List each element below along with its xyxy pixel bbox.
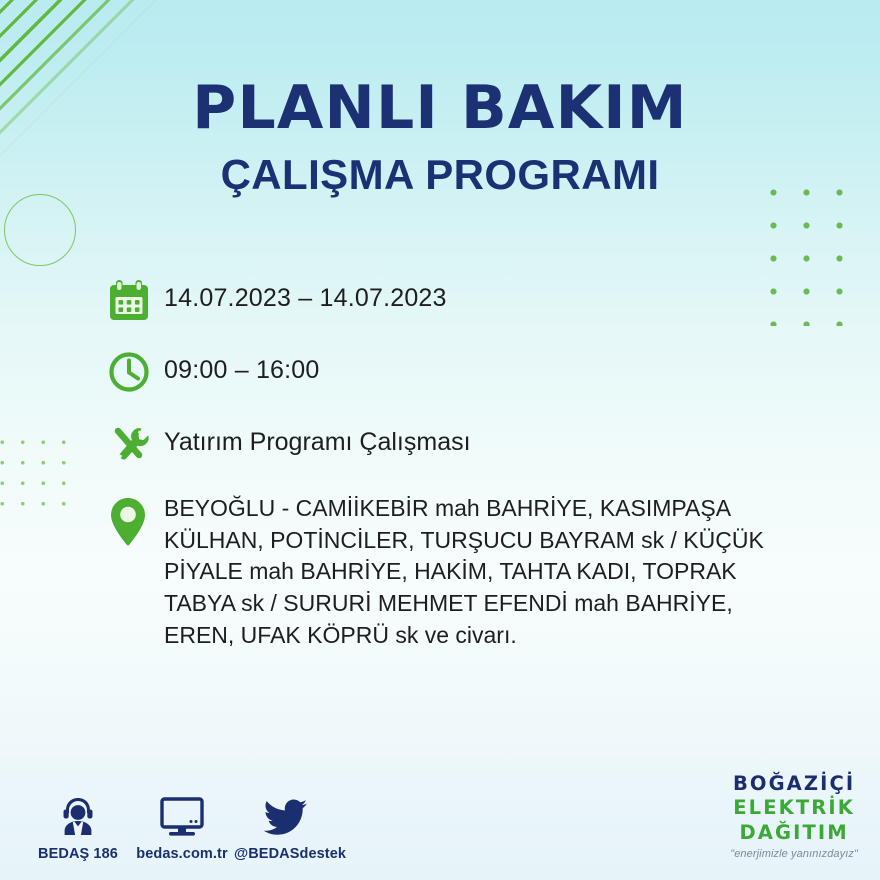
support-agent-icon (26, 792, 130, 838)
brand-line-elektrik: ELEKTRİK (730, 798, 858, 818)
brand-tagline: "enerjimizle yanınızdayız" (730, 849, 858, 860)
tools-icon (108, 420, 164, 470)
footer-item-website[interactable]: bedas.com.tr (130, 792, 234, 862)
info-row-time: 09:00 – 16:00 (108, 348, 808, 398)
monitor-icon (130, 792, 234, 838)
footer-contacts: BEDAŞ 186 bedas.com.tr @BEDASdestek (26, 792, 338, 862)
work-type-value: Yatırım Programı Çalışması (164, 420, 471, 458)
circle-outline-decoration (4, 194, 76, 266)
footer-label-twitter: @BEDASdestek (234, 846, 338, 862)
clock-icon (108, 348, 164, 398)
footer-label-website: bedas.com.tr (130, 846, 234, 862)
page-title-block: PLANLI BAKIM ÇALIŞMA PROGRAMI (0, 78, 880, 196)
page-subtitle: ÇALIŞMA PROGRAMI (0, 154, 880, 196)
info-row-date: 14.07.2023 – 14.07.2023 (108, 276, 808, 326)
location-value: BEYOĞLU - CAMİİKEBİR mah BAHRİYE, KASIMP… (164, 492, 774, 652)
page-title: PLANLI BAKIM (0, 78, 880, 138)
footer-item-twitter[interactable]: @BEDASdestek (234, 792, 338, 862)
info-row-location: BEYOĞLU - CAMİİKEBİR mah BAHRİYE, KASIMP… (108, 492, 808, 652)
time-range-value: 09:00 – 16:00 (164, 348, 320, 386)
twitter-bird-icon (234, 792, 338, 838)
info-row-work-type: Yatırım Programı Çalışması (108, 420, 808, 470)
footer-item-call-center[interactable]: BEDAŞ 186 (26, 792, 130, 862)
footer-label-call-center: BEDAŞ 186 (26, 846, 130, 862)
dot-grid-left-decoration (0, 432, 76, 516)
calendar-icon (108, 276, 164, 326)
brand-logo: BOĞAZİÇİ ELEKTRİK DAĞITIM "enerjimizle y… (730, 774, 858, 861)
brand-line-bogazici: BOĞAZİÇİ (730, 774, 858, 794)
info-list: 14.07.2023 – 14.07.2023 09:00 – 16:00 (108, 276, 808, 652)
poster-canvas: PLANLI BAKIM ÇALIŞMA PROGRAMI (0, 0, 880, 880)
date-range-value: 14.07.2023 – 14.07.2023 (164, 276, 447, 314)
brand-line-dagitim: DAĞITIM (730, 823, 858, 843)
map-pin-icon (108, 492, 164, 544)
